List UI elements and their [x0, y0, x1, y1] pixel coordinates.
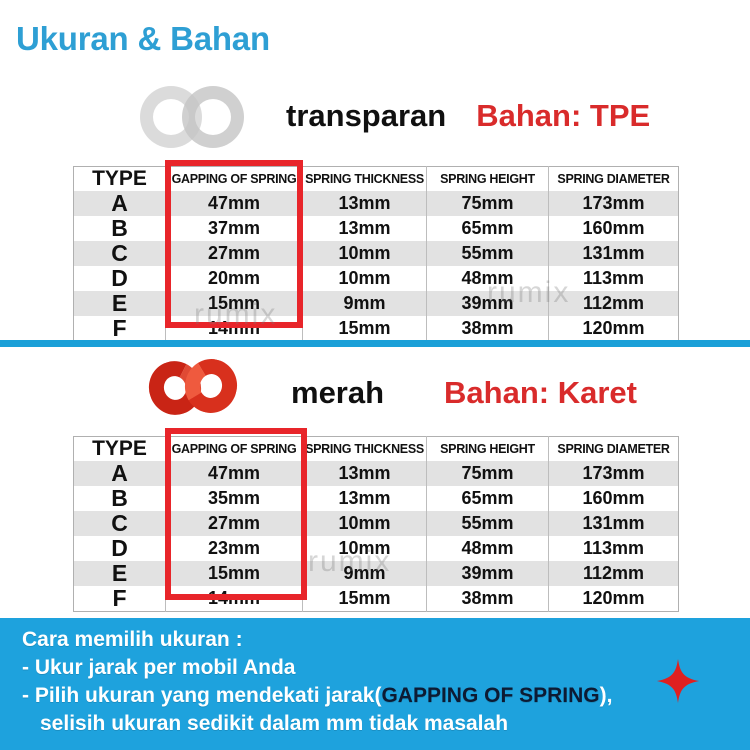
cell-diameter: 173mm [549, 461, 679, 486]
cell-thickness: 13mm [303, 216, 427, 241]
spec-table-karet: TYPE GAPPING OF SPRING SPRING THICKNESS … [73, 436, 679, 612]
cell-thickness: 10mm [303, 511, 427, 536]
column-header-type: TYPE [74, 167, 166, 192]
table-row: D 23mm 10mm 48mm 113mm [74, 536, 679, 561]
colour-label-merah: merah [291, 375, 384, 411]
cell-height: 48mm [427, 266, 549, 291]
cell-height: 39mm [427, 291, 549, 316]
table-row: C 27mm 10mm 55mm 131mm [74, 511, 679, 536]
cell-gapping: 35mm [166, 486, 303, 511]
cell-thickness: 15mm [303, 586, 427, 612]
section-header-tpe: transparan Bahan: TPE [0, 78, 750, 154]
column-header-thickness: SPRING THICKNESS [303, 437, 427, 462]
cell-height: 39mm [427, 561, 549, 586]
cell-type: C [74, 241, 166, 266]
column-header-gapping: GAPPING OF SPRING [166, 167, 303, 192]
cell-gapping: 15mm [166, 561, 303, 586]
cell-type: E [74, 291, 166, 316]
info-step-tolerance: selisih ukuran sedikit dalam mm tidak ma… [40, 712, 508, 736]
info-step-choose-suffix: ), [600, 684, 613, 707]
cell-diameter: 113mm [549, 266, 679, 291]
table-header-row: TYPE GAPPING OF SPRING SPRING THICKNESS … [74, 437, 679, 462]
table-row: E 15mm 9mm 39mm 112mm [74, 291, 679, 316]
cell-gapping: 47mm [166, 461, 303, 486]
cell-diameter: 113mm [549, 536, 679, 561]
cell-gapping: 14mm [166, 586, 303, 612]
cell-gapping: 14mm [166, 316, 303, 342]
page-title: Ukuran & Bahan [16, 20, 270, 58]
cell-type: A [74, 191, 166, 216]
cell-height: 38mm [427, 316, 549, 342]
cell-height: 55mm [427, 511, 549, 536]
section-header-karet: merah Bahan: Karet [0, 355, 750, 431]
cell-gapping: 27mm [166, 511, 303, 536]
cell-thickness: 15mm [303, 316, 427, 342]
column-header-gapping: GAPPING OF SPRING [166, 437, 303, 462]
table-row: B 35mm 13mm 65mm 160mm [74, 486, 679, 511]
cell-gapping: 47mm [166, 191, 303, 216]
cell-thickness: 10mm [303, 536, 427, 561]
table-row: B 37mm 13mm 65mm 160mm [74, 216, 679, 241]
red-rings-icon [145, 355, 265, 431]
cell-diameter: 112mm [549, 561, 679, 586]
cell-type: F [74, 586, 166, 612]
table-row: A 47mm 13mm 75mm 173mm [74, 191, 679, 216]
cell-type: E [74, 561, 166, 586]
cell-gapping: 37mm [166, 216, 303, 241]
table-header-row: TYPE GAPPING OF SPRING SPRING THICKNESS … [74, 167, 679, 192]
column-header-height: SPRING HEIGHT [427, 437, 549, 462]
info-step-choose-prefix: - Pilih ukuran yang mendekati jarak( [22, 684, 381, 707]
table-row: F 14mm 15mm 38mm 120mm [74, 586, 679, 612]
cell-thickness: 13mm [303, 191, 427, 216]
info-step-choose: - Pilih ukuran yang mendekati jarak(GAPP… [22, 684, 612, 708]
cell-height: 48mm [427, 536, 549, 561]
cell-height: 65mm [427, 216, 549, 241]
cell-height: 55mm [427, 241, 549, 266]
spec-table-karet-wrapper: TYPE GAPPING OF SPRING SPRING THICKNESS … [73, 436, 678, 612]
cell-diameter: 131mm [549, 511, 679, 536]
spec-table-tpe: TYPE GAPPING OF SPRING SPRING THICKNESS … [73, 166, 679, 342]
cell-diameter: 120mm [549, 586, 679, 612]
red-sparkle-icon [655, 658, 701, 704]
cell-type: D [74, 266, 166, 291]
cell-gapping: 15mm [166, 291, 303, 316]
cell-type: B [74, 216, 166, 241]
cell-thickness: 10mm [303, 266, 427, 291]
cell-type: C [74, 511, 166, 536]
table-row: D 20mm 10mm 48mm 113mm [74, 266, 679, 291]
cell-height: 75mm [427, 191, 549, 216]
cell-height: 75mm [427, 461, 549, 486]
cell-gapping: 23mm [166, 536, 303, 561]
table-row: C 27mm 10mm 55mm 131mm [74, 241, 679, 266]
info-heading: Cara memilih ukuran : [22, 628, 243, 652]
cell-gapping: 20mm [166, 266, 303, 291]
cell-thickness: 13mm [303, 486, 427, 511]
table-row: A 47mm 13mm 75mm 173mm [74, 461, 679, 486]
material-label-tpe: Bahan: TPE [476, 98, 650, 134]
cell-diameter: 131mm [549, 241, 679, 266]
info-panel: Cara memilih ukuran : - Ukur jarak per m… [0, 618, 750, 750]
cell-diameter: 120mm [549, 316, 679, 342]
material-label-karet: Bahan: Karet [444, 375, 637, 411]
cell-type: F [74, 316, 166, 342]
table-row: F 14mm 15mm 38mm 120mm [74, 316, 679, 342]
cell-diameter: 112mm [549, 291, 679, 316]
column-header-diameter: SPRING DIAMETER [549, 437, 679, 462]
section-divider [0, 340, 750, 347]
cell-thickness: 9mm [303, 561, 427, 586]
cell-type: B [74, 486, 166, 511]
transparent-rings-icon [138, 78, 268, 154]
cell-thickness: 10mm [303, 241, 427, 266]
cell-type: A [74, 461, 166, 486]
cell-height: 38mm [427, 586, 549, 612]
column-header-diameter: SPRING DIAMETER [549, 167, 679, 192]
cell-thickness: 9mm [303, 291, 427, 316]
column-header-height: SPRING HEIGHT [427, 167, 549, 192]
column-header-thickness: SPRING THICKNESS [303, 167, 427, 192]
info-step-choose-emphasis: GAPPING OF SPRING [381, 684, 599, 707]
table-row: E 15mm 9mm 39mm 112mm [74, 561, 679, 586]
colour-label-transparan: transparan [286, 98, 446, 134]
cell-gapping: 27mm [166, 241, 303, 266]
cell-diameter: 173mm [549, 191, 679, 216]
cell-height: 65mm [427, 486, 549, 511]
info-step-measure: - Ukur jarak per mobil Anda [22, 656, 295, 680]
spec-table-tpe-wrapper: TYPE GAPPING OF SPRING SPRING THICKNESS … [73, 166, 678, 342]
column-header-type: TYPE [74, 437, 166, 462]
cell-diameter: 160mm [549, 216, 679, 241]
cell-thickness: 13mm [303, 461, 427, 486]
cell-diameter: 160mm [549, 486, 679, 511]
cell-type: D [74, 536, 166, 561]
